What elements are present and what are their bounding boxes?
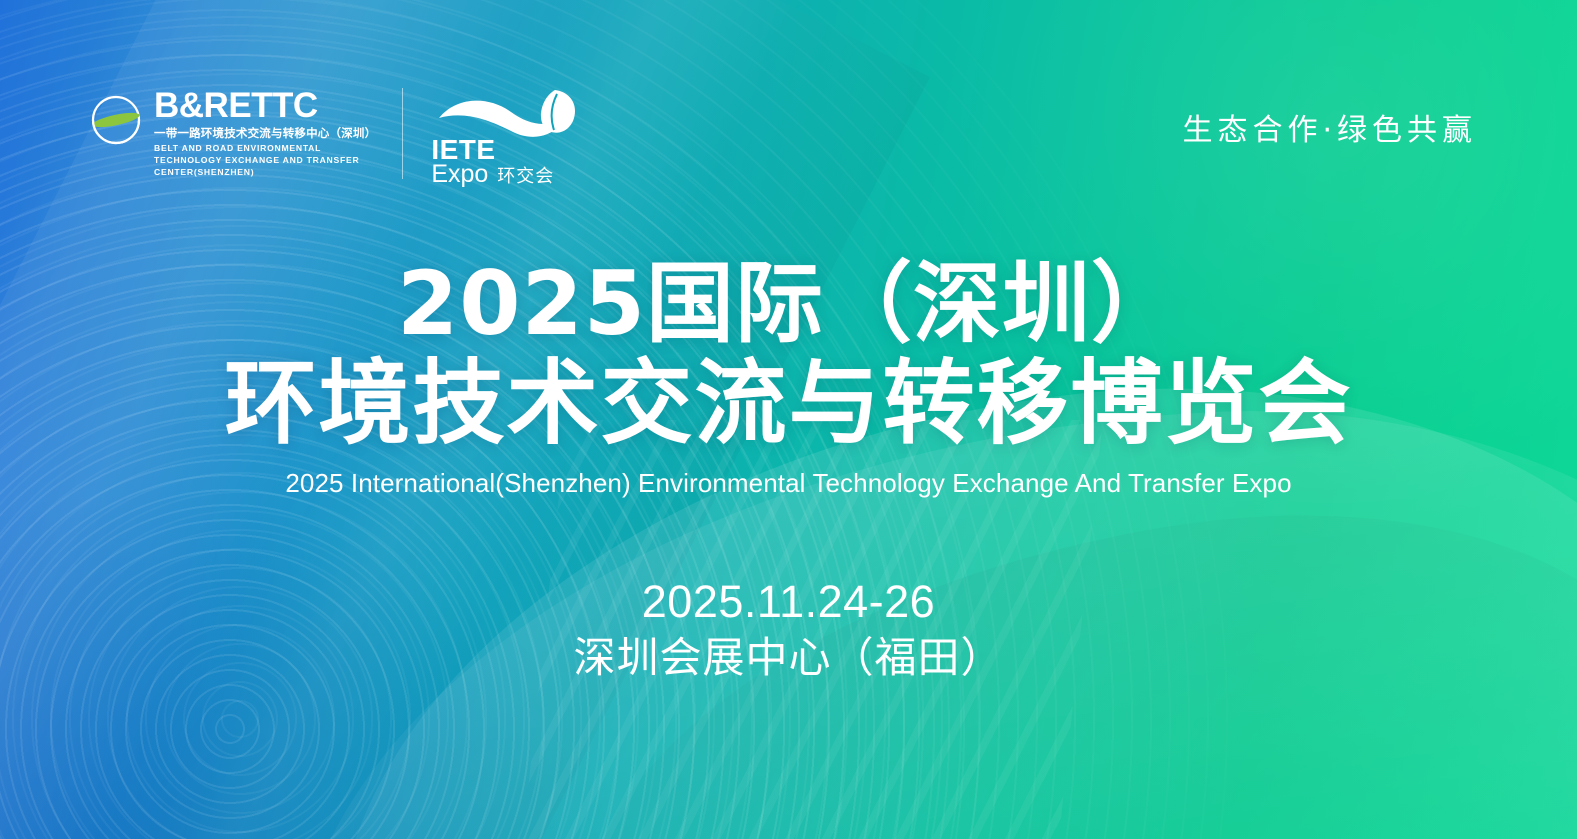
title-line-1: 2025国际（深圳）	[0, 258, 1577, 350]
brettc-chinese-name: 一带一路环境技术交流与转移中心（深圳）	[154, 126, 376, 142]
brettc-english-line-3: CENTER(SHENZHEN)	[154, 167, 376, 178]
brettc-logo[interactable]: B&RETTC 一带一路环境技术交流与转移中心（深圳） BELT AND ROA…	[88, 88, 403, 179]
brettc-english-line-1: BELT AND ROAD ENVIRONMENTAL	[154, 143, 376, 154]
expo-poster: B&RETTC 一带一路环境技术交流与转移中心（深圳） BELT AND ROA…	[0, 0, 1577, 839]
globe-icon	[88, 92, 144, 148]
iete-chinese-abbr: 环交会	[497, 168, 554, 186]
main-title-block: 2025国际（深圳） 环境技术交流与转移博览会 2025 Internation…	[0, 258, 1577, 684]
slogan: 生态合作·绿色共赢	[1182, 105, 1477, 149]
event-date: 2025.11.24-26	[0, 575, 1577, 628]
brettc-name: B&RETTC	[154, 88, 376, 123]
title-line-2: 环境技术交流与转移博览会	[0, 352, 1577, 455]
brettc-english-line-2: TECHNOLOGY EXCHANGE AND TRANSFER	[154, 155, 376, 166]
iete-expo-logo[interactable]: IETE Expo 环交会	[431, 88, 591, 184]
event-venue: 深圳会展中心（福田）	[0, 632, 1577, 683]
iete-expo-word: Expo	[431, 162, 488, 187]
logo-group: B&RETTC 一带一路环境技术交流与转移中心（深圳） BELT AND ROA…	[88, 88, 591, 184]
subtitle-english: 2025 International(Shenzhen) Environment…	[0, 467, 1577, 501]
